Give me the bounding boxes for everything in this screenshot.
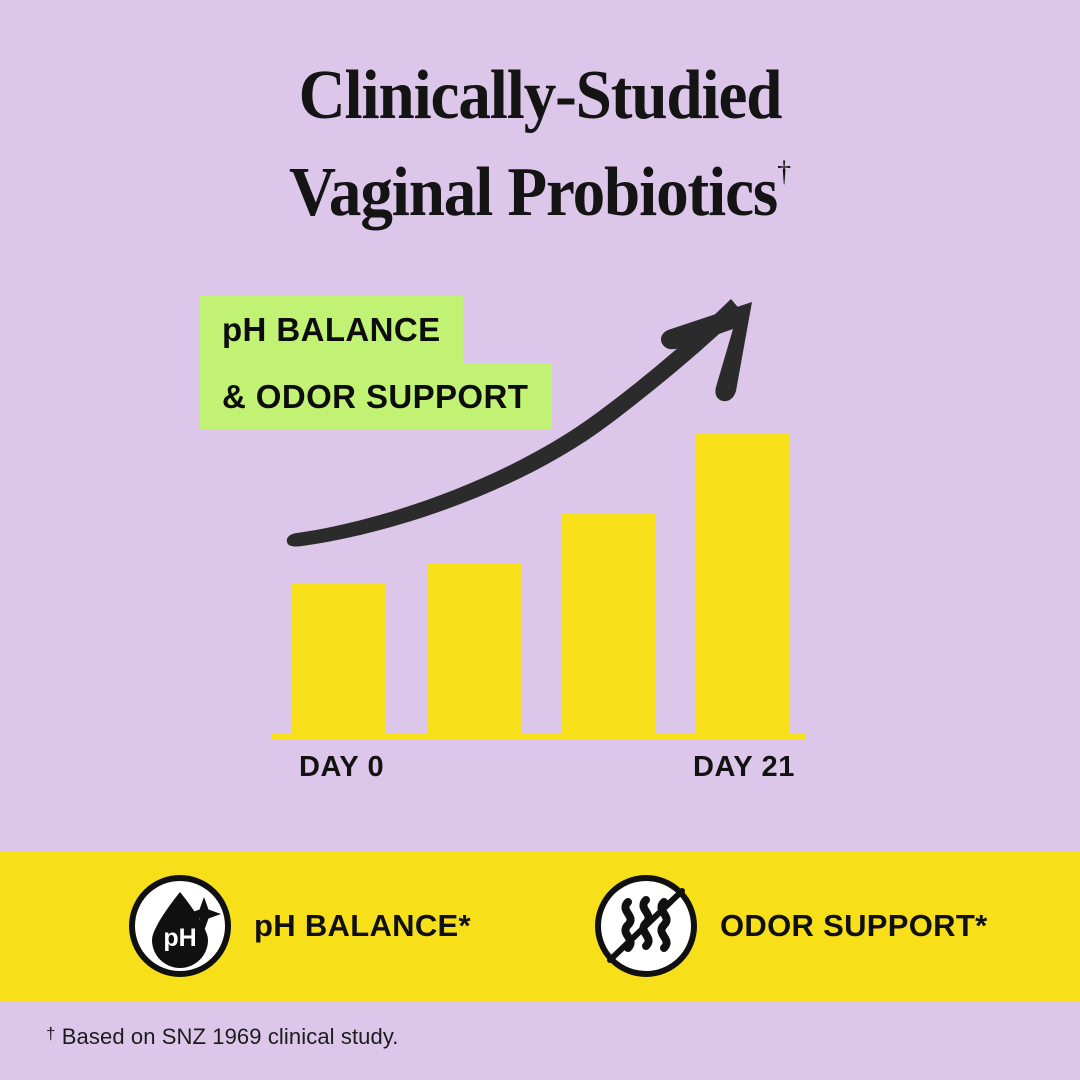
- bar-day-0: [292, 584, 386, 733]
- bar-week-2: [561, 514, 655, 733]
- benefit-item-ph-balance: pH pH BALANCE*: [128, 851, 471, 1001]
- benefits-band: pH pH BALANCE* ODOR SUPPORT*: [0, 851, 1080, 1001]
- benefit-label-odor-support: ODOR SUPPORT*: [720, 908, 987, 944]
- footnote-dagger: †: [46, 1024, 56, 1043]
- bar-day-21: [695, 434, 789, 733]
- bar-week-1: [427, 563, 521, 733]
- chart-axis-line: [272, 733, 805, 740]
- dagger-symbol: †: [777, 155, 791, 188]
- highlight-label-line-2: & ODOR SUPPORT: [222, 378, 528, 416]
- odor-no-waves-icon: [594, 874, 698, 978]
- highlight-badge-odor-support: & ODOR SUPPORT: [200, 363, 552, 430]
- product-claim-infographic: Clinically-Studied Vaginal Probiotics† p…: [0, 0, 1080, 1080]
- axis-tick-label-day-0: DAY 0: [299, 751, 384, 784]
- footnote: † Based on SNZ 1969 clinical study.: [46, 1024, 399, 1050]
- headline-line-2: Vaginal Probiotics: [289, 154, 777, 231]
- highlight-badge-ph-balance: pH BALANCE: [200, 296, 463, 363]
- ph-drop-icon: pH: [128, 874, 232, 978]
- footnote-text: Based on SNZ 1969 clinical study.: [56, 1024, 399, 1049]
- page-title: Clinically-Studied Vaginal Probiotics†: [38, 58, 1042, 231]
- headline-line-1: Clinically-Studied: [38, 58, 1042, 134]
- axis-tick-label-day-21: DAY 21: [693, 751, 795, 784]
- highlight-label-line-1: pH BALANCE: [222, 311, 440, 349]
- svg-text:pH: pH: [163, 924, 196, 952]
- benefit-item-odor-support: ODOR SUPPORT*: [594, 851, 987, 1001]
- headline-line-2-wrap: Vaginal Probiotics†: [38, 134, 1042, 231]
- benefit-label-ph-balance: pH BALANCE*: [254, 908, 471, 944]
